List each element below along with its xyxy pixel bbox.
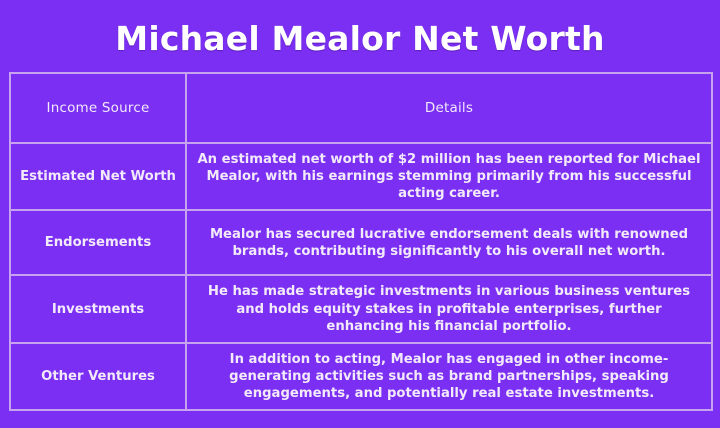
cell-income-source: Estimated Net Worth: [10, 143, 186, 210]
page-title: Michael Mealor Net Worth: [0, 0, 720, 72]
cell-details: He has made strategic investments in var…: [186, 275, 712, 342]
column-header-details: Details: [186, 73, 712, 143]
cell-income-source: Investments: [10, 275, 186, 342]
net-worth-table: Income Source Details Estimated Net Wort…: [9, 72, 713, 411]
table-body: Estimated Net Worth An estimated net wor…: [10, 143, 712, 410]
table-row: Investments He has made strategic invest…: [10, 275, 712, 342]
cell-income-source: Other Ventures: [10, 343, 186, 410]
table-wrapper: Income Source Details Estimated Net Wort…: [0, 72, 720, 423]
cell-details: An estimated net worth of $2 million has…: [186, 143, 712, 210]
cell-details: Mealor has secured lucrative endorsement…: [186, 210, 712, 275]
table-row: Other Ventures In addition to acting, Me…: [10, 343, 712, 410]
page-container: Michael Mealor Net Worth Income Source D…: [0, 0, 720, 428]
table-header-row: Income Source Details: [10, 73, 712, 143]
table-row: Estimated Net Worth An estimated net wor…: [10, 143, 712, 210]
cell-income-source: Endorsements: [10, 210, 186, 275]
column-header-income-source: Income Source: [10, 73, 186, 143]
cell-details: In addition to acting, Mealor has engage…: [186, 343, 712, 410]
table-row: Endorsements Mealor has secured lucrativ…: [10, 210, 712, 275]
table-head: Income Source Details: [10, 73, 712, 143]
